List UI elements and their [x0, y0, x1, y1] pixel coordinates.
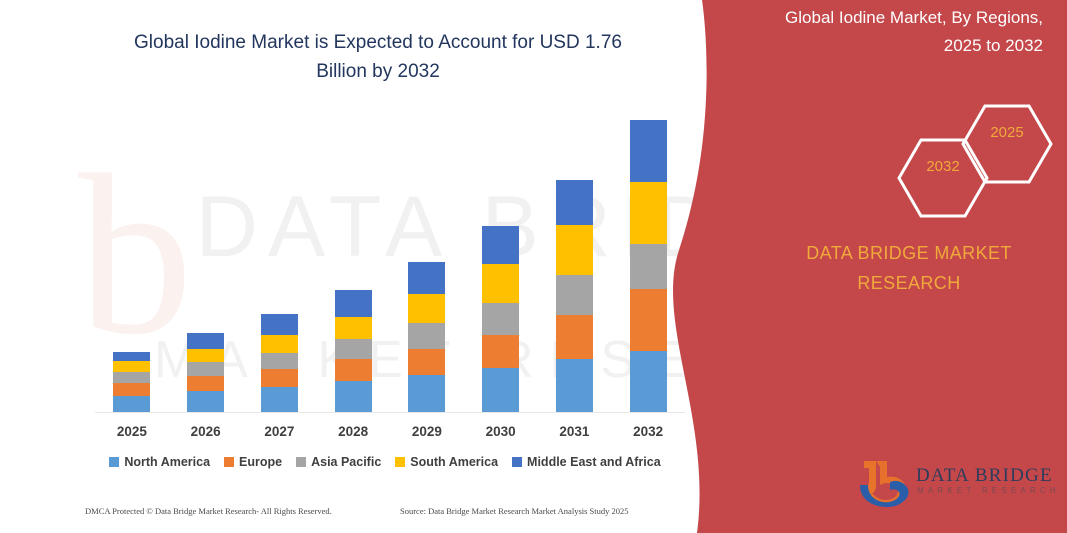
- bar-segment: [261, 387, 298, 412]
- brand-name: DATA BRIDGE MARKET RESEARCH: [779, 238, 1039, 298]
- legend-swatch-icon: [224, 457, 234, 467]
- bar-segment: [187, 376, 224, 391]
- legend-label: Asia Pacific: [311, 455, 381, 469]
- legend-item[interactable]: Asia Pacific: [296, 455, 381, 469]
- bar-segment: [482, 264, 519, 303]
- stacked-bar: [630, 120, 667, 412]
- stacked-bar: [556, 180, 593, 412]
- legend-label: South America: [410, 455, 498, 469]
- bar-segment: [408, 349, 445, 375]
- bar-column-2026: [170, 120, 242, 412]
- x-axis-label-2027: 2027: [243, 424, 315, 439]
- bar-column-2028: [317, 120, 389, 412]
- bar-segment: [113, 383, 150, 396]
- bar-segment: [113, 361, 150, 372]
- hexagon-2025-label: 2025: [977, 124, 1037, 141]
- x-axis-label-2031: 2031: [538, 424, 610, 439]
- stacked-bar: [335, 290, 372, 412]
- bar-column-2031: [538, 120, 610, 412]
- panel-title: Global Iodine Market, By Regions, 2025 t…: [753, 4, 1043, 60]
- bar-segment: [335, 339, 372, 359]
- chart-legend: North AmericaEuropeAsia PacificSouth Ame…: [95, 455, 675, 469]
- bar-segment: [408, 323, 445, 348]
- legend-label: North America: [124, 455, 210, 469]
- bar-segment: [113, 396, 150, 412]
- footer-copyright: DMCA Protected © Data Bridge Market Rese…: [85, 506, 332, 516]
- stacked-bar: [482, 226, 519, 412]
- chart-panel: Global Iodine Market is Expected to Acco…: [0, 0, 740, 533]
- bar-segment: [556, 275, 593, 315]
- x-axis-label-2029: 2029: [391, 424, 463, 439]
- legend-item[interactable]: Europe: [224, 455, 282, 469]
- logo-mark-icon: [854, 455, 916, 511]
- x-axis-labels: 20252026202720282029203020312032: [95, 424, 685, 439]
- stacked-bar: [187, 333, 224, 412]
- bar-segment: [482, 335, 519, 368]
- bar-column-2027: [243, 120, 315, 412]
- bar-column-2025: [96, 120, 168, 412]
- x-axis-label-2025: 2025: [96, 424, 168, 439]
- legend-item[interactable]: Middle East and Africa: [512, 455, 661, 469]
- bar-segment: [187, 391, 224, 412]
- legend-item[interactable]: North America: [109, 455, 210, 469]
- stacked-bar: [113, 352, 150, 412]
- hexagon-2032: [899, 140, 987, 216]
- bar-segment: [335, 317, 372, 339]
- chart-title: Global Iodine Market is Expected to Acco…: [118, 28, 638, 86]
- bar-segment: [408, 294, 445, 324]
- bar-segment: [556, 225, 593, 275]
- bar-segment: [113, 352, 150, 362]
- bar-segment: [630, 182, 667, 243]
- bar-segment: [335, 290, 372, 316]
- bar-segment: [630, 289, 667, 350]
- bar-column-2032: [612, 120, 684, 412]
- brand-line-2: RESEARCH: [779, 268, 1039, 298]
- bar-chart-plot: [95, 120, 685, 412]
- bar-segment: [187, 333, 224, 349]
- bar-segment: [556, 315, 593, 359]
- bar-segment: [261, 335, 298, 353]
- bar-segment: [335, 359, 372, 381]
- bar-segment: [261, 314, 298, 335]
- stacked-bar: [261, 314, 298, 412]
- bar-column-2030: [465, 120, 537, 412]
- x-axis-label-2030: 2030: [465, 424, 537, 439]
- legend-item[interactable]: South America: [395, 455, 498, 469]
- x-axis-label-2032: 2032: [612, 424, 684, 439]
- stacked-bar: [408, 262, 445, 412]
- infographic-root: b DATA BRIDGE MARKET RESEARCH Global Iod…: [0, 0, 1067, 533]
- hexagon-2025: [963, 106, 1051, 182]
- footer-source: Source: Data Bridge Market Research Mark…: [400, 506, 629, 516]
- bar-segment: [482, 368, 519, 412]
- x-axis-label-2026: 2026: [170, 424, 242, 439]
- bar-segment: [261, 369, 298, 387]
- logo-text-sub: MARKET RESEARCH: [917, 486, 1060, 495]
- bar-segment: [113, 372, 150, 384]
- legend-swatch-icon: [512, 457, 522, 467]
- bar-segment: [408, 262, 445, 294]
- bar-segment: [630, 244, 667, 289]
- bar-segment: [556, 180, 593, 224]
- bar-segment: [630, 120, 667, 182]
- bar-column-2029: [391, 120, 463, 412]
- brand-line-1: DATA BRIDGE MARKET: [779, 238, 1039, 268]
- bar-segment: [408, 375, 445, 412]
- bar-segment: [187, 349, 224, 363]
- hexagon-2032-label: 2032: [913, 158, 973, 175]
- x-axis-label-2028: 2028: [317, 424, 389, 439]
- bar-segment: [482, 303, 519, 335]
- legend-swatch-icon: [395, 457, 405, 467]
- logo-text-main: DATA BRIDGE: [916, 465, 1053, 487]
- bar-segment: [630, 351, 667, 412]
- legend-label: Europe: [239, 455, 282, 469]
- bar-segment: [335, 381, 372, 412]
- bar-segment: [482, 226, 519, 264]
- chart-baseline: [95, 412, 685, 413]
- bar-segment: [556, 359, 593, 412]
- legend-swatch-icon: [109, 457, 119, 467]
- company-logo: DATA BRIDGE MARKET RESEARCH: [854, 455, 1059, 513]
- bar-segment: [261, 353, 298, 369]
- legend-label: Middle East and Africa: [527, 455, 661, 469]
- legend-swatch-icon: [296, 457, 306, 467]
- bar-segment: [187, 362, 224, 376]
